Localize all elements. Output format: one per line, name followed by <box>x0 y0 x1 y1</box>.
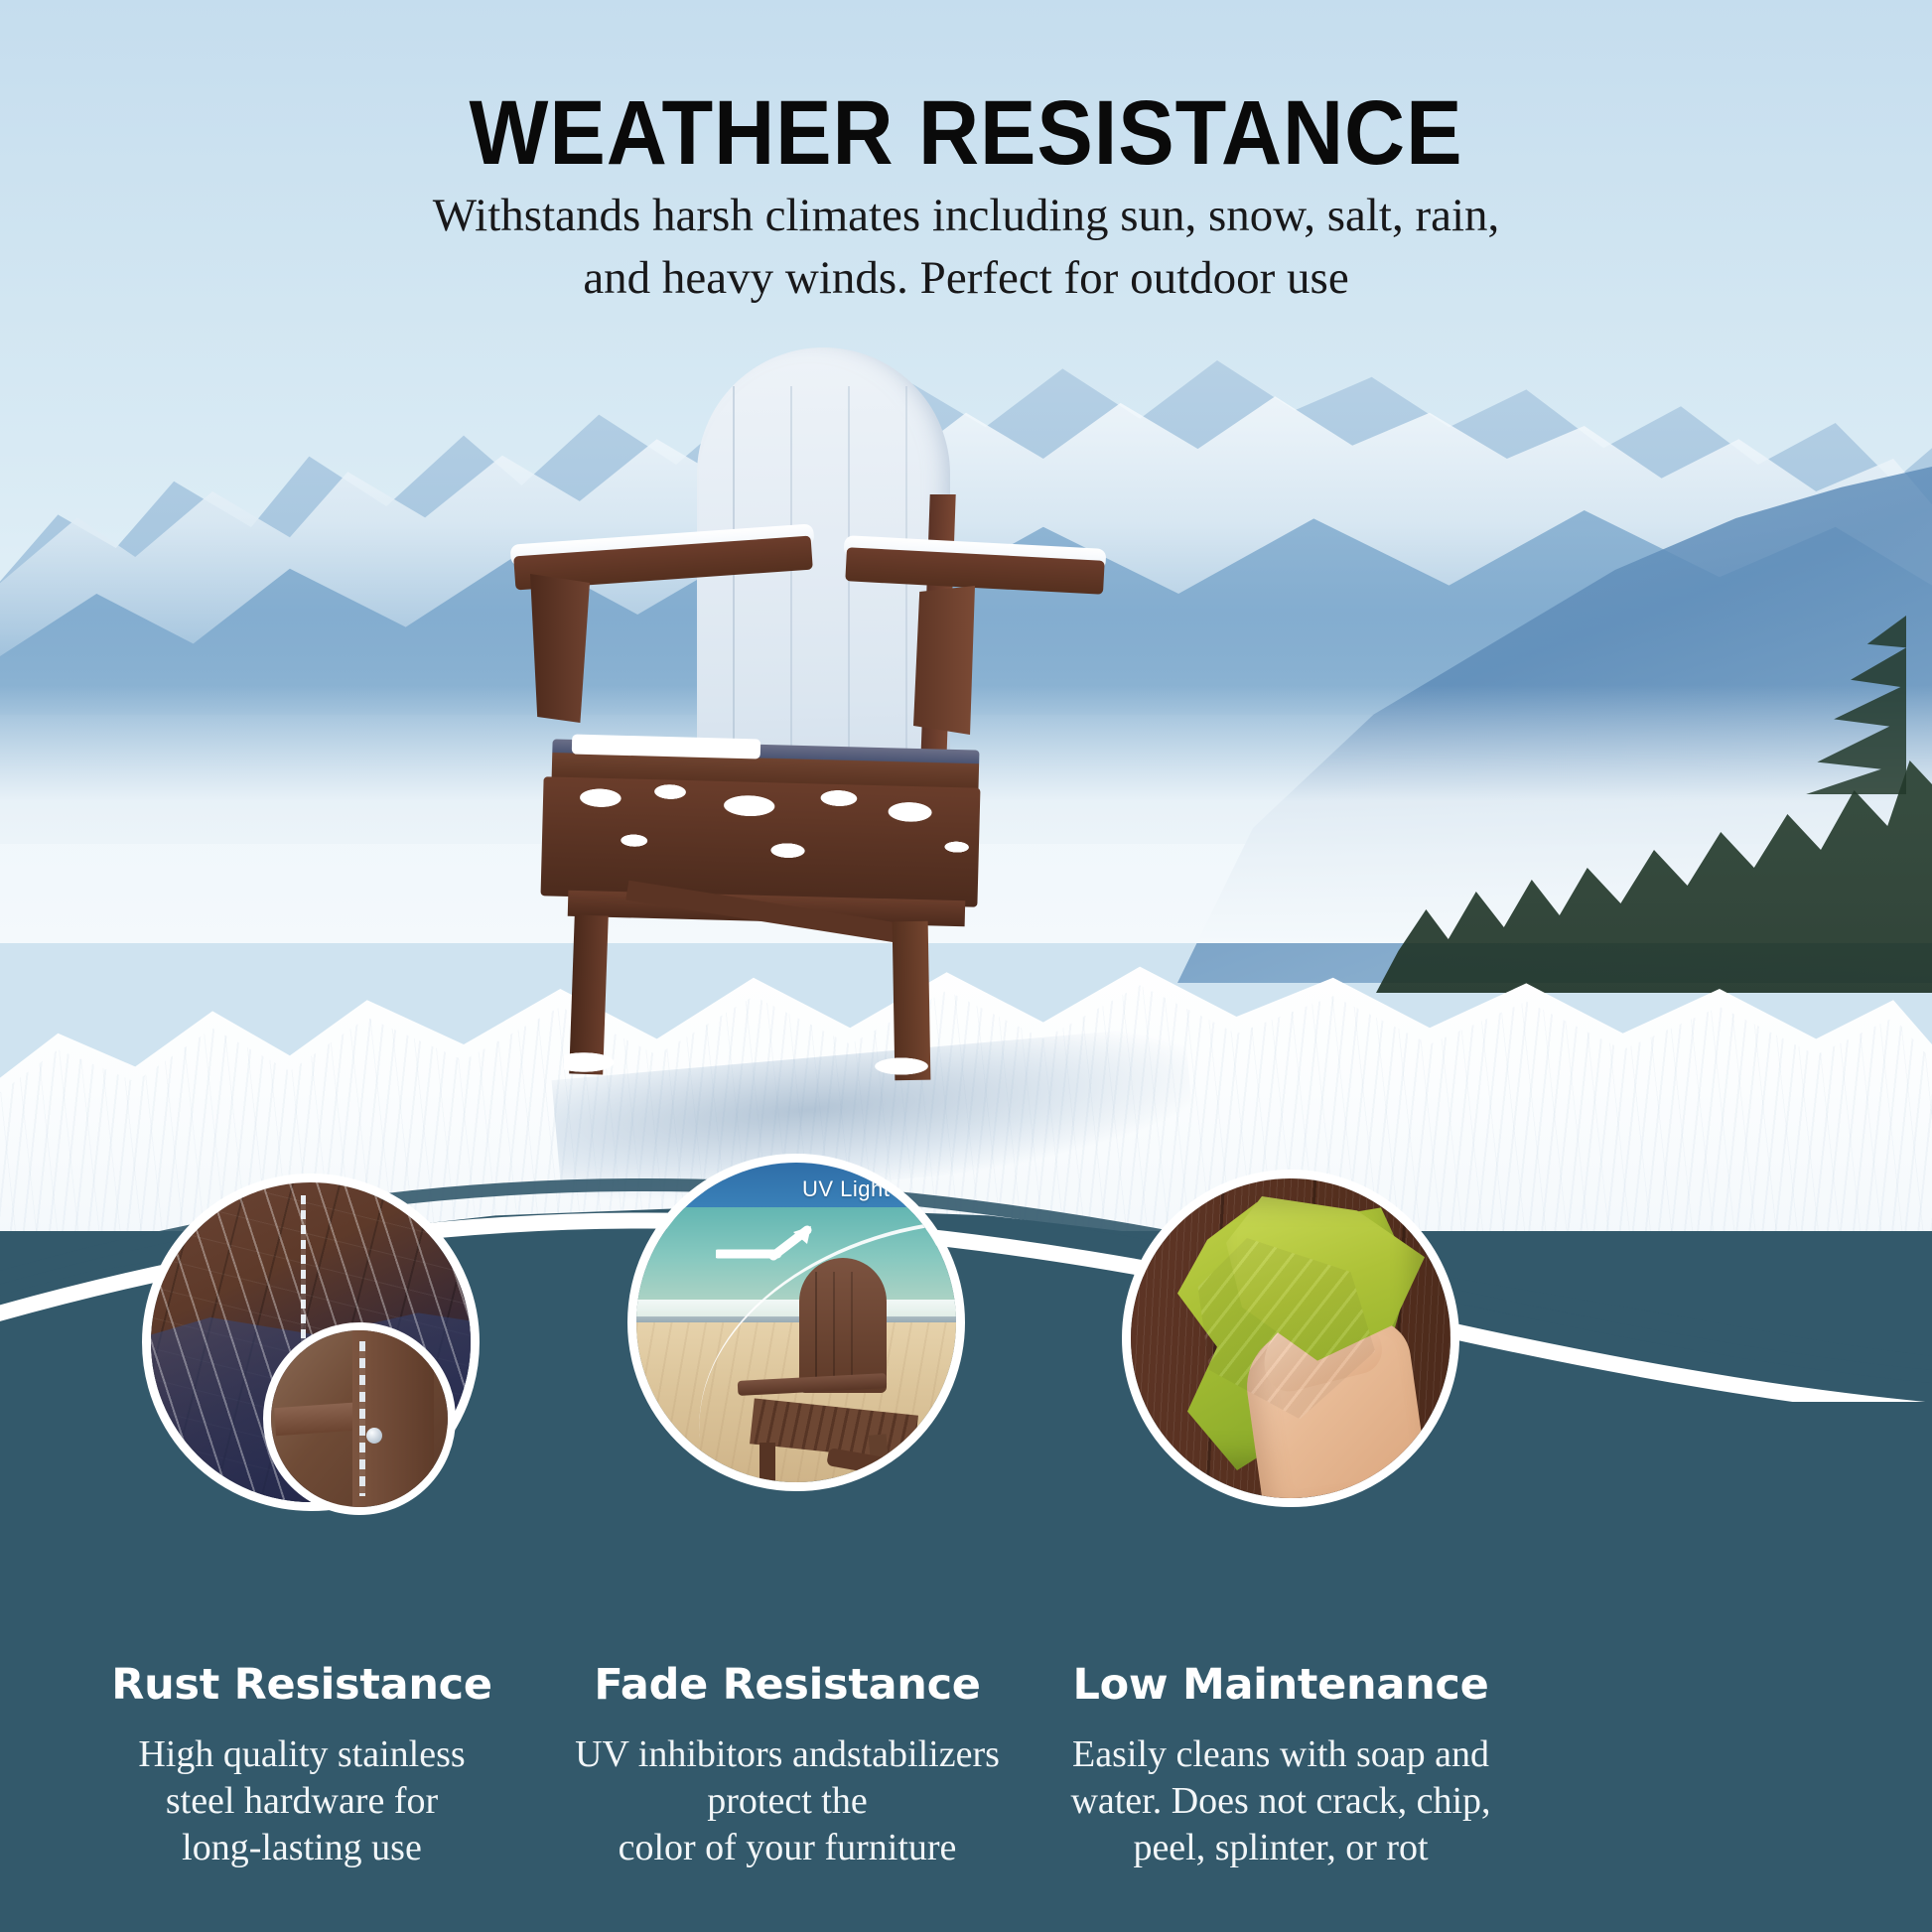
feature-text-low-maintenance: Low Maintenance Easily cleans with soap … <box>1003 1660 1559 1871</box>
page-title: WEATHER RESISTANCE <box>77 81 1855 186</box>
chair-left-arm-support <box>530 574 590 723</box>
feature-body-line-1: Easily cleans with soap and <box>1072 1733 1489 1775</box>
beach-adirondack-chair <box>732 1258 940 1486</box>
feature-text-rust-resistance: Rust Resistance High quality stainless s… <box>24 1660 580 1871</box>
chair-front-snow-patches <box>539 780 984 884</box>
feature-body-line-1: High quality stainless <box>138 1733 465 1775</box>
page-subtitle: Withstands harsh climates including sun,… <box>271 185 1661 309</box>
inset-stainless-chain-icon <box>359 1341 365 1497</box>
feature-body-line-1: UV inhibitors andstabilizers <box>575 1733 1000 1775</box>
chair-right-arm-support <box>913 586 975 735</box>
uv-light-arrow-icon <box>716 1224 825 1274</box>
feature-body-line-2: protect the <box>707 1780 867 1822</box>
chair-base-snow <box>564 1042 951 1084</box>
beach-chair-front-leg <box>759 1443 775 1491</box>
feature-body-line-3: color of your furniture <box>619 1827 957 1868</box>
feature-title-low-maintenance: Low Maintenance <box>1003 1660 1559 1710</box>
feature-image-low-maintenance <box>1122 1170 1459 1507</box>
weather-resistance-infographic: WEATHER RESISTANCE Withstands harsh clim… <box>0 0 1932 1932</box>
feature-body-fade-resistance: UV inhibitors andstabilizers protect the… <box>509 1731 1065 1871</box>
uv-light-label: UV Light <box>802 1176 890 1202</box>
inset-stainless-bolt-icon <box>366 1428 382 1444</box>
feature-image-fade-resistance: UV Light <box>627 1154 965 1491</box>
feature-body-rust-resistance: High quality stainless steel hardware fo… <box>24 1731 580 1871</box>
feature-body-low-maintenance: Easily cleans with soap and water. Does … <box>1003 1731 1559 1871</box>
feature-title-rust-resistance: Rust Resistance <box>24 1660 580 1710</box>
subtitle-line-2: and heavy winds. Perfect for outdoor use <box>583 252 1348 304</box>
feature-body-line-2: steel hardware for <box>166 1780 438 1822</box>
feature-title-fade-resistance: Fade Resistance <box>509 1660 1065 1710</box>
hero-snow-covered-chair <box>477 347 1172 1082</box>
feature-body-line-2: water. Does not crack, chip, <box>1070 1780 1490 1822</box>
beach-chair-backrest <box>799 1258 887 1393</box>
subtitle-line-1: Withstands harsh climates including sun,… <box>433 190 1500 241</box>
feature-body-line-3: long-lasting use <box>182 1827 422 1868</box>
feature-body-line-3: peel, splinter, or rot <box>1133 1827 1428 1868</box>
feature-text-fade-resistance: Fade Resistance UV inhibitors andstabili… <box>509 1660 1065 1871</box>
rust-hardware-inset-circle <box>263 1322 456 1515</box>
